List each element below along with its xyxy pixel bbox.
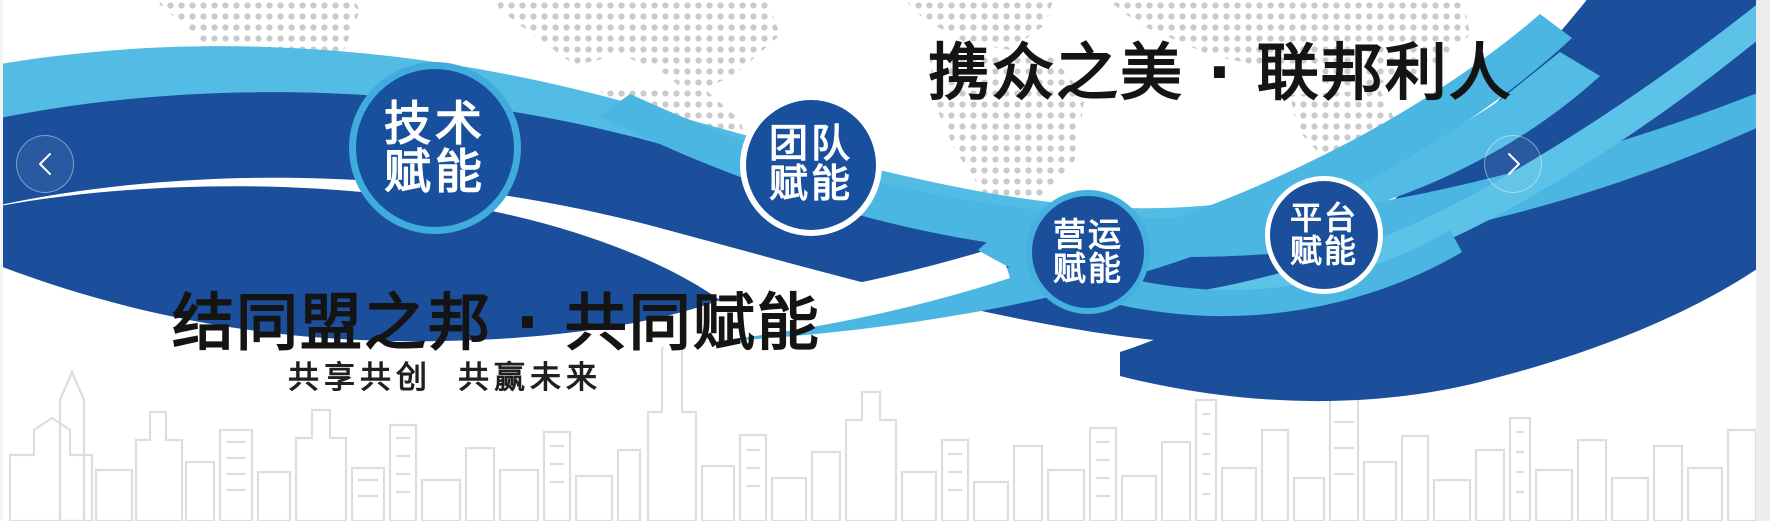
tagline-right: 共赢未来: [458, 360, 602, 396]
chevron-right-icon: [1503, 151, 1523, 177]
text-layer: 携众之美 · 联邦利人 结同盟之邦 · 共同赋能 共享共创共赢未来: [0, 0, 1770, 521]
page-gutter-left: [0, 0, 3, 521]
carousel-next-button[interactable]: [1484, 135, 1542, 193]
banner-slide: 技术 赋能 团队 赋能 营运 赋能 平台 赋能 携众之美 · 联邦利人 结同盟之…: [0, 0, 1770, 521]
page-gutter-right: [1756, 0, 1770, 521]
carousel-prev-button[interactable]: [16, 135, 74, 193]
banner-headline: 携众之美 · 联邦利人: [928, 22, 1513, 112]
tagline-left: 共享共创: [288, 360, 432, 396]
banner-tagline: 共享共创共赢未来: [288, 352, 602, 397]
banner-subheadline: 结同盟之邦 · 共同赋能: [172, 272, 821, 362]
chevron-left-icon: [35, 151, 55, 177]
